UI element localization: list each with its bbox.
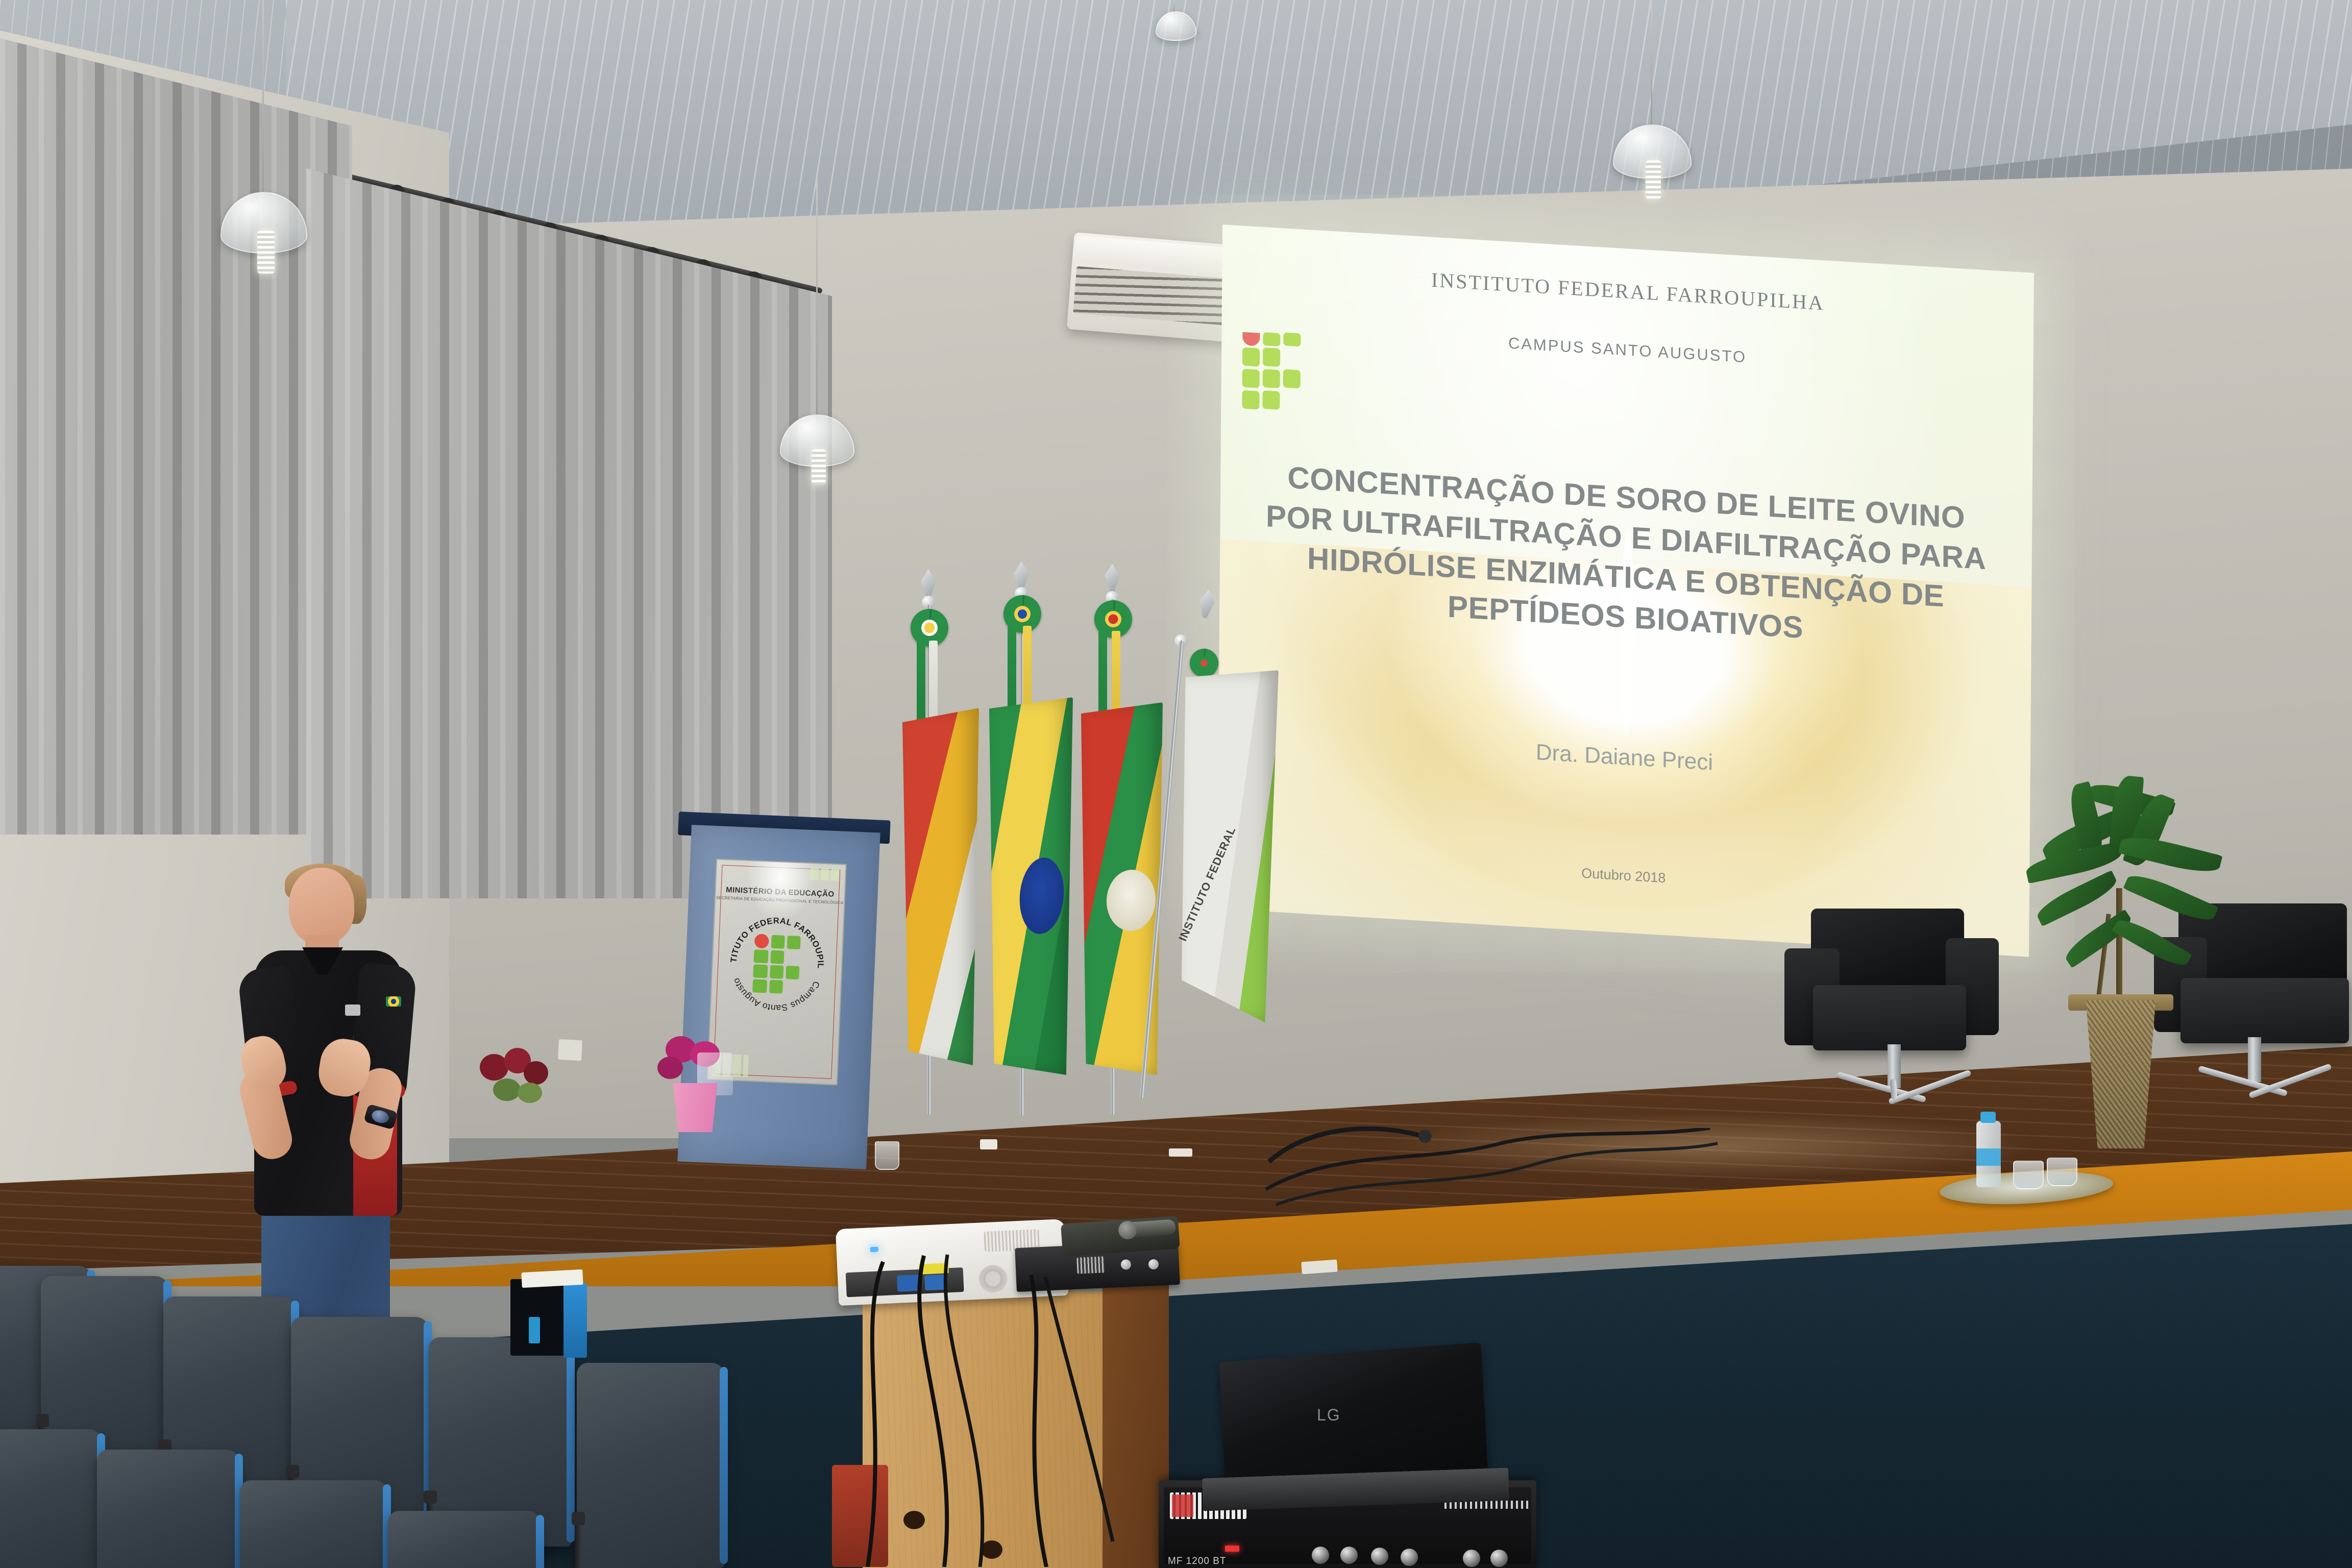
flag-rosette	[1190, 649, 1218, 677]
water-bottle	[1976, 1121, 2001, 1187]
plaque-iff-logo	[752, 934, 801, 991]
red-object	[832, 1465, 888, 1567]
pendant-lamp	[204, 0, 322, 286]
lamp-cord	[1651, 0, 1652, 128]
receiver-display	[1076, 1256, 1105, 1273]
receiver-knob[interactable]	[1148, 1259, 1159, 1270]
wall-outlet	[557, 1039, 583, 1061]
vga-port	[897, 1275, 921, 1292]
input-jack[interactable]	[1463, 1550, 1480, 1567]
pink-pot	[669, 1083, 722, 1132]
lamp-cord	[816, 174, 818, 424]
armchair-seat	[1813, 985, 1966, 1050]
flag-cloth-municipal	[902, 708, 979, 1065]
auditorium-seat[interactable]	[0, 1429, 102, 1568]
auditorium-seat[interactable]	[388, 1511, 541, 1568]
pendant-lamp	[1603, 0, 1700, 225]
cart-cable-hole	[981, 1540, 1002, 1559]
armchair-base-leg	[1836, 1071, 1926, 1102]
cart-cable-hole	[903, 1511, 925, 1529]
plaque-glare	[743, 859, 819, 925]
palm-leaf	[2112, 914, 2192, 972]
pink-flower-arrangement	[653, 1036, 745, 1133]
laptop-brand-logo: LG	[1317, 1406, 1341, 1425]
presenter-head	[289, 868, 354, 944]
laptop-lid	[1219, 1342, 1488, 1488]
slide-organization: INSTITUTO FEDERAL FARROUPILHA	[1222, 255, 2033, 328]
small-white-object	[1301, 1260, 1338, 1275]
flag-finial	[1105, 563, 1120, 592]
input-jack[interactable]	[1371, 1548, 1388, 1565]
asset-tag	[919, 1263, 949, 1275]
laptop[interactable]: LG	[1215, 1353, 1501, 1506]
handheld-microphone[interactable]	[1126, 1219, 1176, 1238]
amplifier-model-label: MF 1200 BT	[1168, 1556, 1227, 1567]
flag-finial	[1197, 589, 1216, 619]
input-jack[interactable]	[1312, 1547, 1329, 1564]
cart-panel	[863, 1291, 1108, 1568]
pendant-lamp	[1143, 0, 1205, 66]
input-jack[interactable]	[1490, 1550, 1508, 1567]
input-jack[interactable]	[1340, 1547, 1358, 1564]
input-jack[interactable]	[1401, 1549, 1418, 1566]
auditorium-seat[interactable]	[97, 1450, 240, 1568]
small-white-object	[980, 1139, 997, 1149]
power-led	[1225, 1546, 1239, 1552]
shirt-logo	[345, 1004, 360, 1016]
drinking-glass	[875, 1141, 899, 1170]
plant-stem	[2116, 888, 2122, 1006]
flag-pole	[1140, 641, 1184, 1098]
lamp-bulb	[812, 449, 826, 485]
lamp-bulb	[1646, 160, 1661, 199]
flag-finial	[1014, 561, 1029, 590]
curtain-right[interactable]	[306, 168, 832, 898]
projection-screen: INSTITUTO FEDERAL FARROUPILHA CAMPUS SAN…	[1217, 225, 2034, 957]
auditorium-seat[interactable]	[577, 1363, 725, 1568]
palm-leaf	[2061, 909, 2136, 968]
drinking-glass	[2047, 1158, 2077, 1186]
brazil-flag-patch	[386, 996, 401, 1007]
lamp-shade	[1156, 11, 1196, 41]
instituto-federal-farroupilha-logo	[1242, 332, 1304, 422]
pendant-lamp	[771, 174, 863, 408]
palm-leaf	[2118, 831, 2223, 877]
drinking-glass	[2013, 1161, 2044, 1189]
stage-armchair-left[interactable]	[1786, 909, 2042, 1123]
lamp-bulb	[257, 231, 275, 274]
flag-institutional: INSTITUTO FEDERAL	[1146, 590, 1279, 1131]
small-white-object	[1169, 1148, 1192, 1157]
vga-port	[924, 1275, 945, 1291]
blue-black-bag	[510, 1271, 587, 1363]
flag-finial	[921, 569, 936, 598]
lamp-cord	[262, 0, 264, 194]
bottle-label	[1976, 1148, 2001, 1166]
power-indicator	[870, 1247, 878, 1253]
bottle-cap	[1980, 1112, 1996, 1123]
potted-palm	[2011, 761, 2236, 1148]
planter-pot	[2072, 1000, 2169, 1148]
auditorium-scene: INSTITUTO FEDERAL FARROUPILHA CAMPUS SAN…	[0, 0, 2352, 1568]
auditorium-seat[interactable]	[240, 1480, 388, 1568]
receiver-knob[interactable]	[1120, 1259, 1131, 1270]
armchair-post	[2248, 1037, 2261, 1082]
palm-leaf	[2123, 869, 2218, 927]
slide-campus: CAMPUS SANTO AUGUSTO	[1221, 317, 2033, 384]
